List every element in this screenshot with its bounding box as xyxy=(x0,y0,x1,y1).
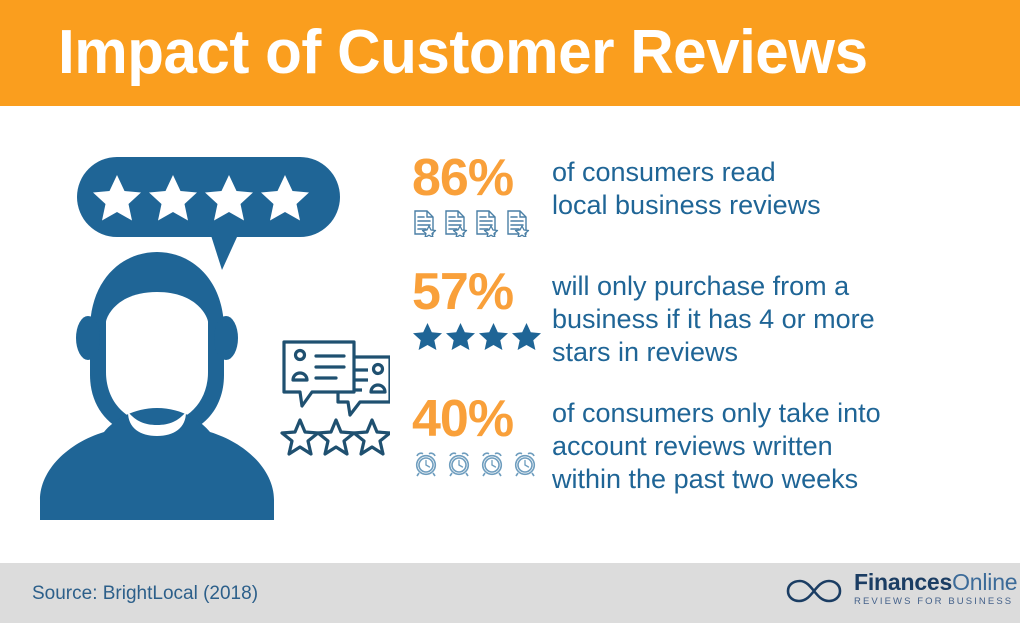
review-document-icon xyxy=(412,209,438,237)
alarm-clock-icon xyxy=(445,450,473,478)
star-icon xyxy=(478,320,509,350)
review-document-icon xyxy=(505,209,531,237)
header-band: Impact of Customer Reviews xyxy=(0,0,1020,106)
star-icon-row xyxy=(412,320,552,350)
customer-illustration-svg xyxy=(30,140,390,520)
stat-description-line: business if it has 4 or more xyxy=(552,303,1012,336)
logo-name-light: Online xyxy=(952,569,1017,595)
stat-row: 57% will only purcha xyxy=(412,266,1012,369)
stat-percent: 57% xyxy=(412,266,552,318)
infographic-root: Impact of Customer Reviews xyxy=(0,0,1020,623)
outlined-stars xyxy=(282,420,390,454)
page-title: Impact of Customer Reviews xyxy=(58,14,868,92)
person-avatar-icon xyxy=(40,252,274,520)
stat-description: of consumers read local business reviews xyxy=(552,152,1012,222)
stat-description: will only purchase from a business if it… xyxy=(552,266,1012,369)
source-text: Source: BrightLocal (2018) xyxy=(32,582,258,606)
review-document-icon-row xyxy=(412,208,552,238)
stat-percent: 40% xyxy=(412,393,552,445)
stat-percent: 86% xyxy=(412,152,552,204)
stat-description-line: within the past two weeks xyxy=(552,463,1012,496)
stat-description-line: of consumers only take into xyxy=(552,397,1012,430)
star-icon xyxy=(412,320,443,350)
stat-description: of consumers only take into account revi… xyxy=(552,393,1012,496)
alarm-clock-icon-row xyxy=(412,449,552,479)
stat-figure: 86% xyxy=(412,152,552,238)
stat-description-line: stars in reviews xyxy=(552,336,1012,369)
star-icon xyxy=(445,320,476,350)
star-icon xyxy=(511,320,542,350)
alarm-clock-icon xyxy=(511,450,539,478)
logo-wordmark: FinancesOnline REVIEWS FOR BUSINESS xyxy=(854,570,1017,608)
testimonial-chat-icon xyxy=(282,342,390,454)
financesonline-logo[interactable]: FinancesOnline REVIEWS FOR BUSINESS xyxy=(786,570,1017,608)
stat-row: 86% xyxy=(412,152,1012,238)
alarm-clock-icon xyxy=(412,450,440,478)
logo-name: FinancesOnline xyxy=(854,570,1017,595)
stat-description-line: will only purchase from a xyxy=(552,270,1012,303)
review-speech-bubble-icon xyxy=(77,157,340,270)
logo-name-bold: Finances xyxy=(854,569,952,595)
stat-description-line: local business reviews xyxy=(552,189,1012,222)
stat-figure: 57% xyxy=(412,266,552,350)
logo-tagline: REVIEWS FOR BUSINESS xyxy=(854,596,1017,608)
review-document-icon xyxy=(443,209,469,237)
stats-list: 86% xyxy=(412,152,1012,496)
customer-illustration xyxy=(30,140,390,520)
stat-row: 40% xyxy=(412,393,1012,496)
stat-description-line: account reviews written xyxy=(552,430,1012,463)
cloud-infinity-logo-icon xyxy=(786,570,844,608)
review-document-icon xyxy=(474,209,500,237)
alarm-clock-icon xyxy=(478,450,506,478)
stat-description-line: of consumers read xyxy=(552,156,1012,189)
stat-figure: 40% xyxy=(412,393,552,479)
